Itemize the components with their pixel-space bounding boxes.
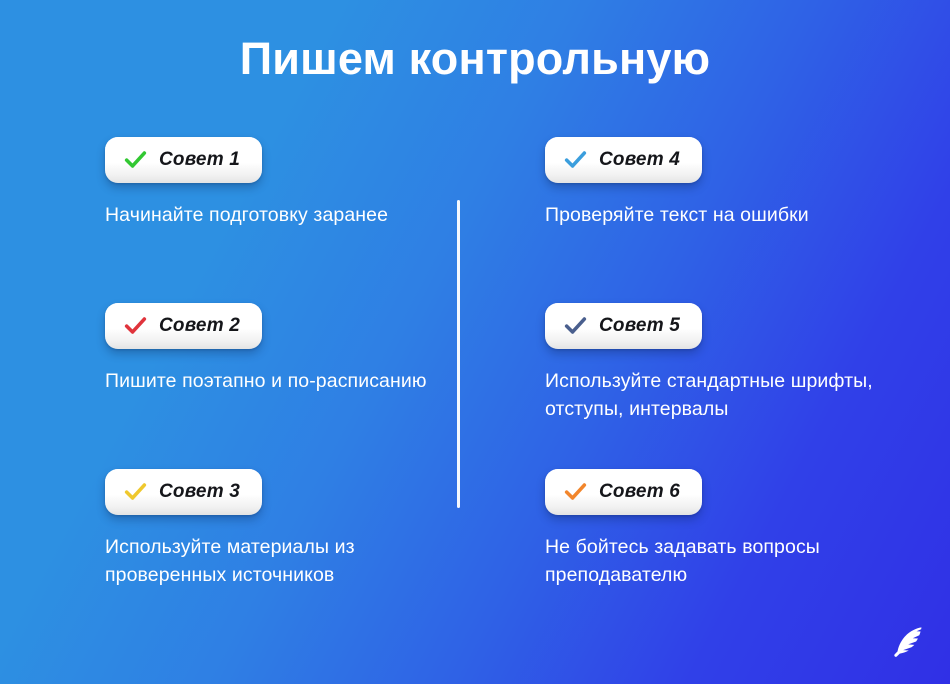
tip-badge[interactable]: Совет 2 bbox=[105, 303, 262, 349]
slide-canvas: Пишем контрольную Совет 1 Начинайте подг… bbox=[0, 0, 950, 684]
check-icon bbox=[563, 479, 588, 504]
tip-item: Совет 3 Используйте материалы из провере… bbox=[105, 469, 445, 589]
tip-badge-label: Совет 2 bbox=[159, 315, 240, 337]
tip-item: Совет 5 Используйте стандартные шрифты, … bbox=[545, 303, 895, 423]
tip-item: Совет 6 Не бойтесь задавать вопросы преп… bbox=[545, 469, 895, 589]
page-title: Пишем контрольную bbox=[0, 34, 950, 84]
tip-description: Не бойтесь задавать вопросы преподавател… bbox=[545, 534, 895, 589]
tip-badge[interactable]: Совет 1 bbox=[105, 137, 262, 183]
tip-description: Начинайте подготовку заранее bbox=[105, 202, 445, 230]
tip-badge-label: Совет 3 bbox=[159, 481, 240, 503]
check-icon bbox=[123, 313, 148, 338]
tip-badge[interactable]: Совет 6 bbox=[545, 469, 702, 515]
check-icon bbox=[563, 313, 588, 338]
tip-badge[interactable]: Совет 5 bbox=[545, 303, 702, 349]
tip-badge-label: Совет 1 bbox=[159, 149, 240, 171]
tip-description: Пишите поэтапно и по-расписанию bbox=[105, 368, 445, 396]
tip-badge-label: Совет 6 bbox=[599, 481, 680, 503]
tip-badge[interactable]: Совет 4 bbox=[545, 137, 702, 183]
tip-item: Совет 2 Пишите поэтапно и по-расписанию bbox=[105, 303, 445, 396]
tip-badge-label: Совет 4 bbox=[599, 149, 680, 171]
feather-quill-icon bbox=[886, 622, 928, 664]
tip-badge[interactable]: Совет 3 bbox=[105, 469, 262, 515]
check-icon bbox=[123, 479, 148, 504]
tip-item: Совет 4 Проверяйте текст на ошибки bbox=[545, 137, 895, 230]
tip-description: Используйте стандартные шрифты, отступы,… bbox=[545, 368, 895, 423]
check-icon bbox=[123, 147, 148, 172]
tip-badge-label: Совет 5 bbox=[599, 315, 680, 337]
tip-description: Проверяйте текст на ошибки bbox=[545, 202, 895, 230]
tip-description: Используйте материалы из проверенных ист… bbox=[105, 534, 445, 589]
tip-item: Совет 1 Начинайте подготовку заранее bbox=[105, 137, 445, 230]
column-divider bbox=[457, 200, 460, 508]
check-icon bbox=[563, 147, 588, 172]
